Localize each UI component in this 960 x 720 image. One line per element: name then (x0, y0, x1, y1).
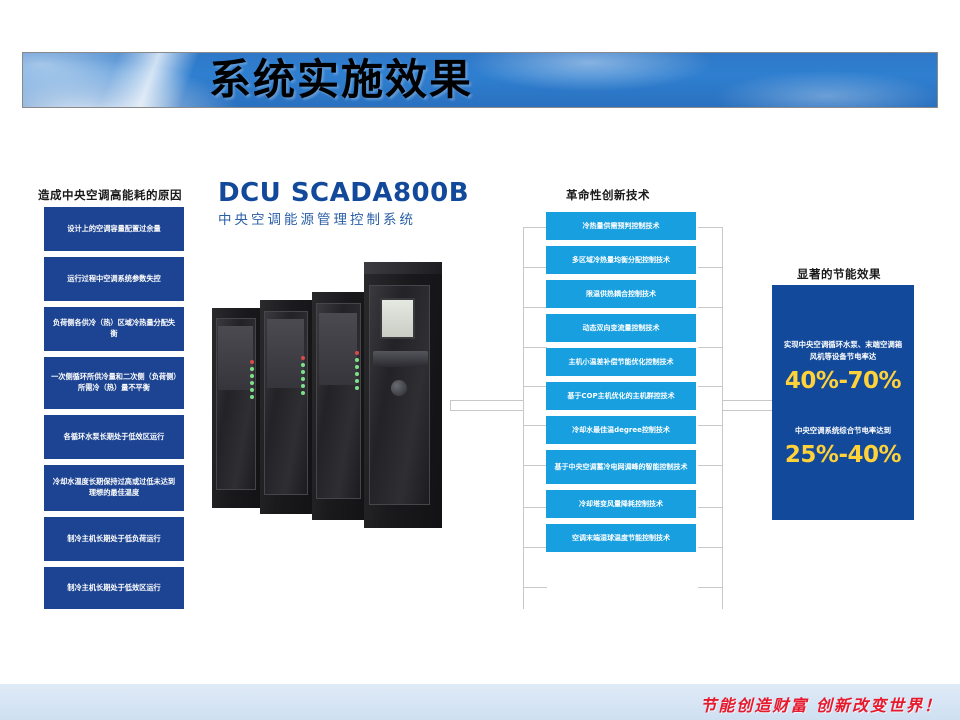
connector-branch-left (523, 587, 547, 588)
cabinet-panel (218, 326, 252, 390)
result-heading: 显著的节能效果 (797, 266, 881, 282)
cabinet-unit-main (364, 272, 442, 528)
tech-box[interactable]: 冷却塔变风量降耗控制技术 (546, 490, 696, 518)
tech-box[interactable]: 冷热量供需预判控制技术 (546, 212, 696, 240)
technologies-column: 冷热量供需预判控制技术 多区域冷热量均衡分配控制技术 限温供热耦合控制技术 动态… (546, 212, 696, 558)
connector-branch-left (523, 547, 547, 548)
cause-box[interactable]: 各循环水泵长期处于低效区运行 (44, 415, 184, 459)
connector-branch-right (698, 507, 722, 508)
title-banner: 系统实施效果 (22, 52, 938, 108)
tech-box[interactable]: 基于中央空调蓄冷电网调峰的智能控制技术 (546, 450, 696, 484)
result-panel: 实现中央空调循环水泵、末端空调箱风机等设备节电率达 40%-70% 中央空调系统… (772, 285, 914, 520)
cause-box[interactable]: 运行过程中空调系统参数失控 (44, 257, 184, 301)
cabinet-top-face (364, 262, 442, 274)
connector-branch-left (523, 227, 547, 228)
connector-stem-upper-left (450, 400, 524, 401)
footer-bar: 节能创造财富 创新改变世界！ (0, 684, 960, 720)
connector-branch-left (523, 507, 547, 508)
cabinet-knob[interactable] (391, 380, 407, 396)
tech-box[interactable]: 限温供热耦合控制技术 (546, 280, 696, 308)
status-led-strip (250, 360, 256, 402)
connector-branch-right (698, 465, 722, 466)
technologies-heading: 革命性创新技术 (566, 187, 650, 203)
connector-branch-left (523, 425, 547, 426)
result-description: 实现中央空调循环水泵、末端空调箱风机等设备节电率达 (782, 339, 904, 363)
connector-branch-left (523, 267, 547, 268)
control-cabinet-photo (212, 252, 448, 552)
connector-branch-left (523, 347, 547, 348)
cause-box[interactable]: 一次侧循环所供冷量和二次侧（负荷侧）所需冷（热）量不平衡 (44, 357, 184, 409)
result-description: 中央空调系统综合节电率达到 (782, 425, 904, 437)
cause-box[interactable]: 制冷主机长期处于低效区运行 (44, 567, 184, 609)
result-value: 40%-70% (782, 366, 904, 396)
product-logo: DCU SCADA800B 中央空调能源管理控制系统 (218, 178, 469, 230)
tech-box[interactable]: 基于COP主机优化的主机群控技术 (546, 382, 696, 410)
connector-branch-right (698, 386, 722, 387)
connector-trunk-right (722, 227, 723, 609)
tech-box[interactable]: 动态双向变流量控制技术 (546, 314, 696, 342)
connector-branch-right (698, 307, 722, 308)
tech-box[interactable]: 多区域冷热量均衡分配控制技术 (546, 246, 696, 274)
causes-heading: 造成中央空调高能耗的原因 (38, 187, 182, 203)
connector-trunk-left (523, 227, 524, 609)
connector-branch-right (698, 587, 722, 588)
result-value: 25%-40% (782, 440, 904, 470)
cause-box[interactable]: 制冷主机长期处于低负荷运行 (44, 517, 184, 561)
cabinet-unit (212, 308, 264, 508)
cabinet-panel (319, 313, 357, 386)
product-name: DCU SCADA800B (218, 178, 469, 208)
causes-column: 设计上的空调容量配置过余量 运行过程中空调系统参数失控 负荷侧各供冷（热）区域冷… (44, 207, 184, 615)
tech-box[interactable]: 主机小温差补偿节能优化控制技术 (546, 348, 696, 376)
cabinet-unit (312, 292, 370, 520)
connector-branch-left (523, 465, 547, 466)
status-led-strip (301, 356, 307, 398)
cause-box[interactable]: 设计上的空调容量配置过余量 (44, 207, 184, 251)
cause-box[interactable]: 冷却水温度长期保持过高或过低未达到理想的最佳温度 (44, 465, 184, 511)
connector-branch-right (698, 547, 722, 548)
cabinet-vent-slot (373, 351, 428, 366)
product-subtitle: 中央空调能源管理控制系统 (218, 210, 469, 230)
slide-canvas: 系统实施效果 造成中央空调高能耗的原因 设计上的空调容量配置过余量 运行过程中空… (0, 0, 960, 720)
connector-branch-left (523, 386, 547, 387)
connector-stem-lower-right (722, 410, 774, 411)
connector-branch-right (698, 347, 722, 348)
result-block-system: 中央空调系统综合节电率达到 25%-40% (782, 425, 904, 470)
connector-branch-right (698, 227, 722, 228)
cause-box[interactable]: 负荷侧各供冷（热）区域冷热量分配失衡 (44, 307, 184, 351)
tech-box[interactable]: 冷却水最佳温degree控制技术 (546, 416, 696, 444)
cabinet-panel (267, 319, 304, 387)
connector-branch-right (698, 267, 722, 268)
connector-stem-upper-right (722, 400, 774, 401)
connector-stem-lower-left (450, 410, 524, 411)
page-title: 系统实施效果 (209, 52, 473, 108)
connector-branch-left (523, 307, 547, 308)
cabinet-unit (260, 300, 316, 514)
footer-tagline: 节能创造财富 创新改变世界！ (700, 692, 942, 716)
connector-split-left (450, 400, 451, 411)
result-block-equipment: 实现中央空调循环水泵、末端空调箱风机等设备节电率达 40%-70% (782, 339, 904, 396)
cabinet-display-screen[interactable] (380, 298, 416, 339)
tech-box[interactable]: 空调末端湿球温度节能控制技术 (546, 524, 696, 552)
connector-branch-right (698, 425, 722, 426)
status-led-strip (355, 351, 361, 393)
